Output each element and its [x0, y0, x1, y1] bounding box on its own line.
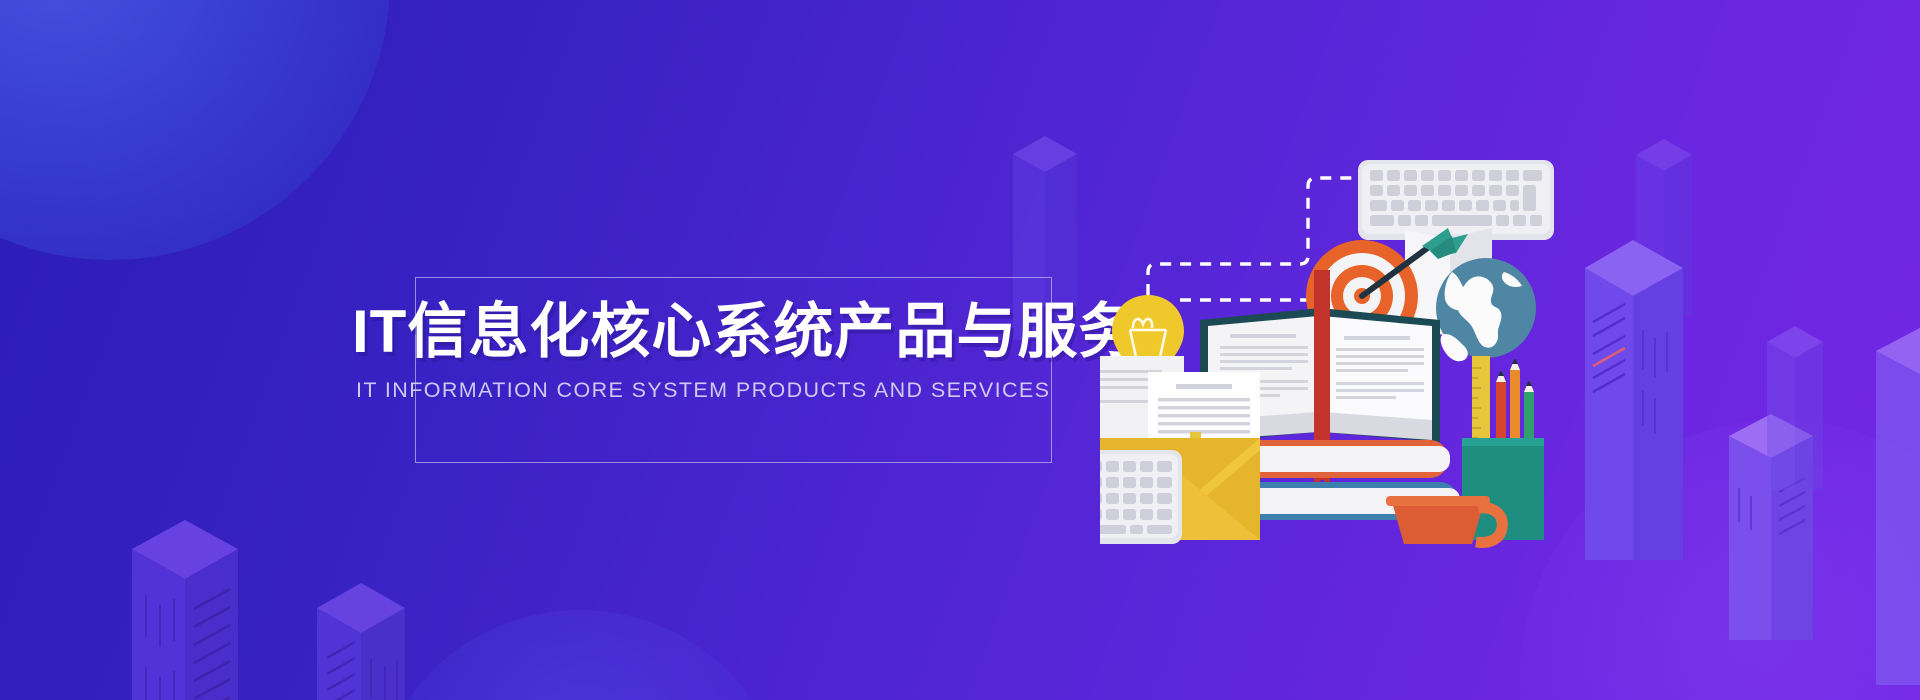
- building-iso-2: [275, 580, 440, 700]
- globe-icon: [1436, 258, 1536, 361]
- building-iso-7: [1745, 320, 1845, 490]
- page-title: IT信息化核心系统产品与服务: [352, 300, 1112, 364]
- hero-banner: IT信息化核心系统产品与服务 IT INFORMATION CORE SYSTE…: [0, 0, 1920, 700]
- it-workspace-illustration: [1100, 120, 1560, 590]
- building-iso-1: [80, 515, 280, 700]
- decorative-circle-top-left: [0, 0, 390, 260]
- keyboard-left: [1100, 450, 1182, 544]
- keyboard-top: [1358, 160, 1554, 240]
- building-iso-8: [1860, 295, 1920, 685]
- building-iso-5: [1565, 230, 1730, 560]
- headline-block: IT信息化核心系统产品与服务 IT INFORMATION CORE SYSTE…: [352, 300, 1112, 403]
- page-subtitle: IT INFORMATION CORE SYSTEM PRODUCTS AND …: [356, 378, 1112, 403]
